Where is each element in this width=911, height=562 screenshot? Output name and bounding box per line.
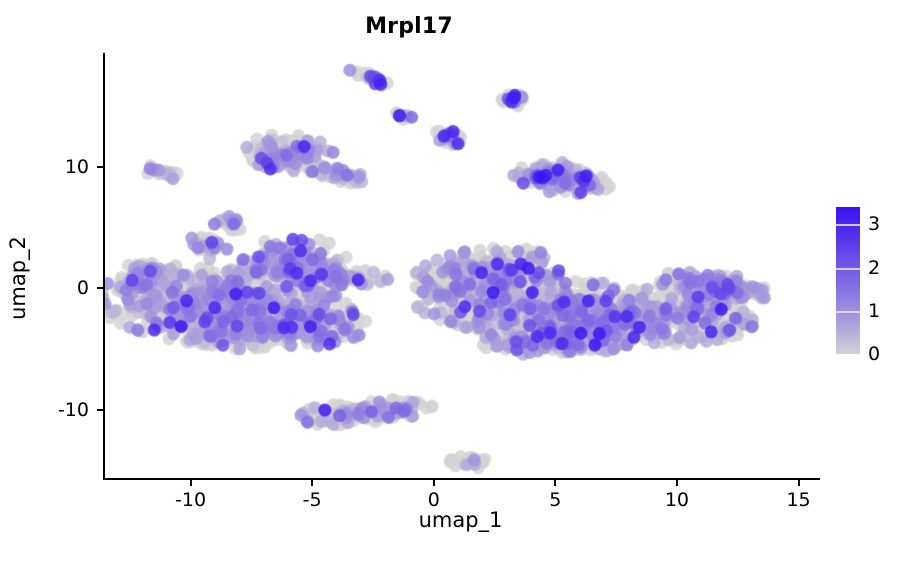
x-tick-mark <box>798 480 800 486</box>
x-tick-mark <box>554 480 556 486</box>
y-tick-mark <box>97 287 103 289</box>
plot-axes: -10-5051015 100-10 <box>103 53 818 480</box>
x-tick-mark <box>676 480 678 486</box>
colorbar-legend: 3210 <box>836 207 860 354</box>
umap-feature-plot: Mrpl17 -10-5051015 100-10 umap_1 umap_2 … <box>0 0 911 562</box>
x-axis-spine <box>103 478 820 480</box>
y-tick-label: 0 <box>77 277 89 299</box>
y-tick-mark <box>97 409 103 411</box>
colorbar-tick-mark <box>836 311 860 313</box>
colorbar-gradient: 3210 <box>836 207 860 354</box>
y-axis-spine <box>103 53 105 480</box>
colorbar-tick-label: 3 <box>868 213 880 235</box>
y-tick-label: -10 <box>58 399 89 421</box>
colorbar-tick-label: 0 <box>868 343 880 365</box>
x-axis-label: umap_1 <box>103 508 818 532</box>
colorbar-tick-mark <box>836 224 860 226</box>
colorbar-tick-label: 2 <box>868 257 880 279</box>
x-tick-mark <box>190 480 192 486</box>
y-axis-label: umap_2 <box>6 198 30 358</box>
colorbar-tick-label: 1 <box>868 300 880 322</box>
colorbar-tick-mark <box>836 268 860 270</box>
x-tick-mark <box>311 480 313 486</box>
x-tick-mark <box>433 480 435 486</box>
page-title: Mrpl17 <box>0 14 818 39</box>
y-tick-label: 10 <box>65 156 89 178</box>
y-tick-mark <box>97 166 103 168</box>
scatter-canvas <box>103 53 818 480</box>
